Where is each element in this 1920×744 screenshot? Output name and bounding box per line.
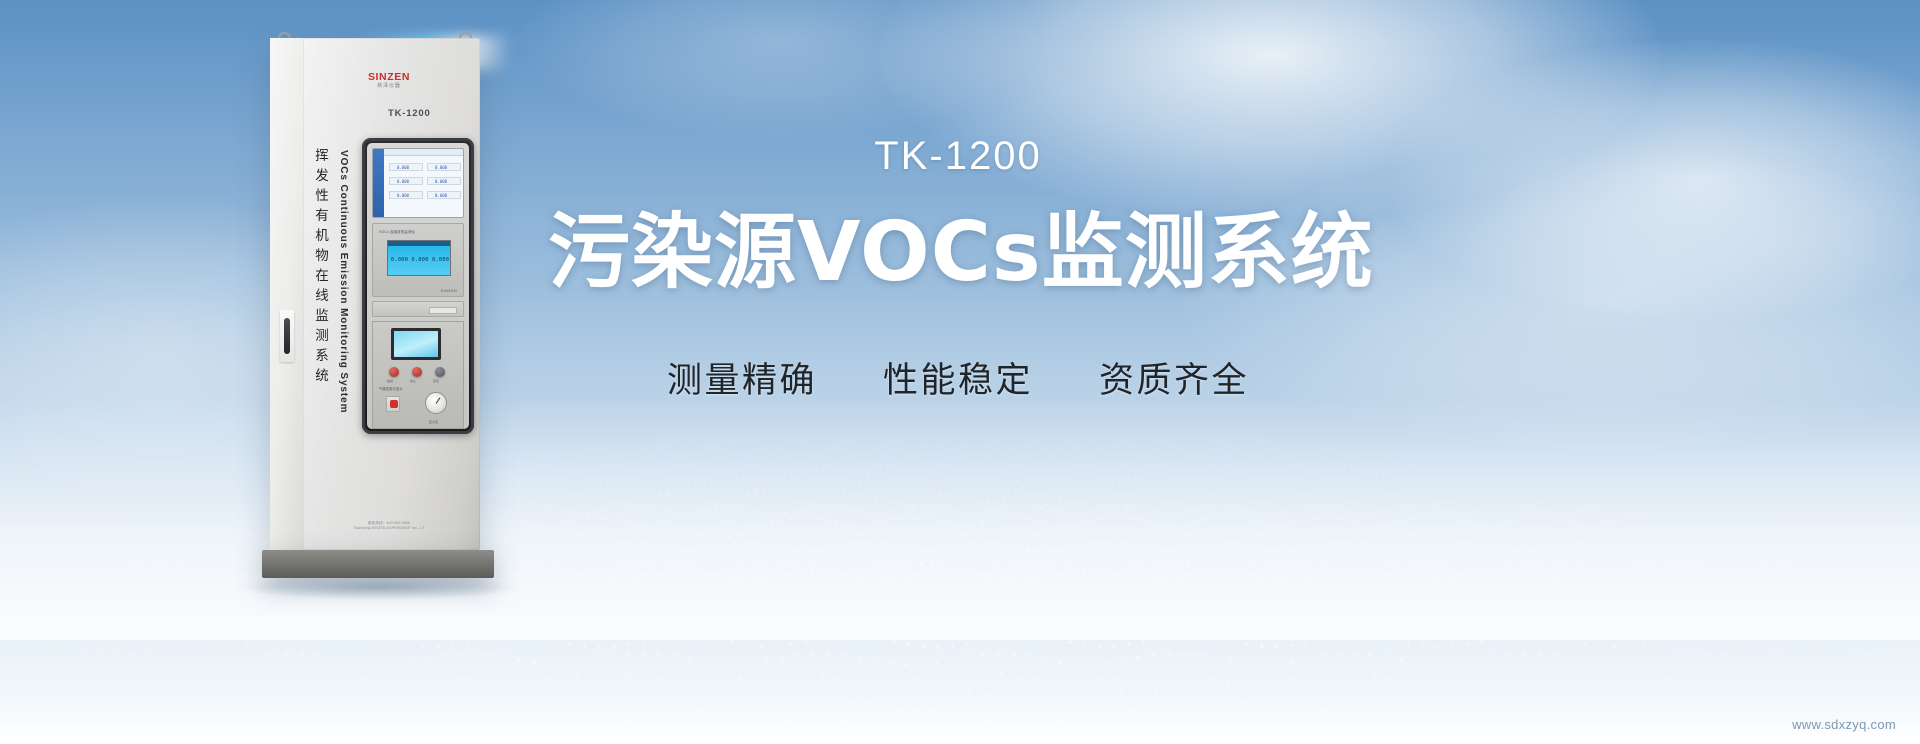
analyzer-brand: SINZEN xyxy=(441,288,457,293)
analyzer-module: VOCs 连续排放监测仪 0.000 0.000 0.000 SINZEN xyxy=(372,223,464,297)
start-button[interactable] xyxy=(389,367,399,377)
instrument-bay: 0.000 0.000 0.000 0.000 0.000 0.000 VOCs… xyxy=(362,138,474,434)
cloud-decoration xyxy=(1390,40,1920,320)
cabinet-body: SINZEN 新泽仪器 TK-1200 挥发性有机物在线监测系统 VOCs Co… xyxy=(270,38,480,550)
analyzer-display-value: 0.000 0.000 0.000 xyxy=(391,257,447,263)
product-banner: SINZEN 新泽仪器 TK-1200 挥发性有机物在线监测系统 VOCs Co… xyxy=(0,0,1920,744)
hmi-reading: 0.000 xyxy=(397,165,409,170)
pressure-gauge-label: 压力表 xyxy=(429,420,438,424)
feature-item: 性能稳定 xyxy=(883,352,1033,403)
stop-button-label: 停止 xyxy=(410,379,416,383)
brand-logo-sub: 新泽仪器 xyxy=(366,84,412,89)
model-number: TK-1200 xyxy=(548,136,1368,176)
cabinet-model-plate: TK-1200 xyxy=(388,108,431,119)
control-panel: 气路控制与显示 启动 停止 复位 压力表 xyxy=(372,321,464,429)
product-cabinet: SINZEN 新泽仪器 TK-1200 挥发性有机物在线监测系统 VOCs Co… xyxy=(262,22,494,582)
cabinet-door-panel xyxy=(270,38,304,550)
cloud-decoration xyxy=(520,0,1040,140)
feature-item: 资质齐全 xyxy=(1099,352,1249,403)
hmi-reading: 0.000 xyxy=(435,193,447,198)
hmi-reading: 0.000 xyxy=(397,179,409,184)
control-touchscreen[interactable] xyxy=(391,328,441,360)
feature-item: 测量精确 xyxy=(667,352,817,403)
brand-logo: SINZEN 新泽仪器 xyxy=(366,72,412,89)
cabinet-footer-text: 服务热线：400-060-5858 Shandong SINZEN EXPERI… xyxy=(314,521,464,532)
cabinet-vertical-english-label: VOCs Continuous Emission Monitoring Syst… xyxy=(338,150,349,418)
hmi-titlebar xyxy=(384,149,463,156)
site-watermark: www.sdxzyq.com xyxy=(1792,717,1896,732)
hmi-reading: 0.000 xyxy=(435,179,447,184)
analyzer-display-titlebar xyxy=(388,241,450,246)
analyzer-panel-label: VOCs 连续排放监测仪 xyxy=(379,229,415,234)
emergency-stop-button[interactable] xyxy=(386,396,400,412)
banner-copy: TK-1200 污染源VOCs监测系统 测量精确 性能稳定 资质齐全 xyxy=(548,136,1368,403)
stop-button[interactable] xyxy=(412,367,422,377)
analyzer-display: 0.000 0.000 0.000 xyxy=(387,240,451,276)
pressure-gauge xyxy=(425,392,447,414)
brand-logo-mark: SINZEN xyxy=(366,72,412,83)
start-button-label: 启动 xyxy=(387,379,393,383)
hmi-reading: 0.000 xyxy=(397,193,409,198)
reset-button-label: 复位 xyxy=(433,379,439,383)
banner-headline: 污染源VOCs监测系统 xyxy=(548,210,1368,296)
cabinet-footer-company: Shandong SINZEN EXPERIMENT Inc., LT xyxy=(314,526,464,532)
door-handle xyxy=(280,310,294,362)
feature-list: 测量精确 性能稳定 资质齐全 xyxy=(548,352,1368,403)
hmi-nav-strip xyxy=(373,149,384,217)
cabinet-vertical-chinese-label: 挥发性有机物在线监测系统 xyxy=(310,148,330,418)
cabinet-ground-shadow xyxy=(236,574,522,600)
hmi-reading: 0.000 xyxy=(435,165,447,170)
control-panel-note: 气路控制与显示 xyxy=(379,386,403,391)
blank-panel xyxy=(372,301,464,317)
hmi-touchscreen[interactable]: 0.000 0.000 0.000 0.000 0.000 0.000 xyxy=(372,148,464,218)
reset-button[interactable] xyxy=(435,367,445,377)
